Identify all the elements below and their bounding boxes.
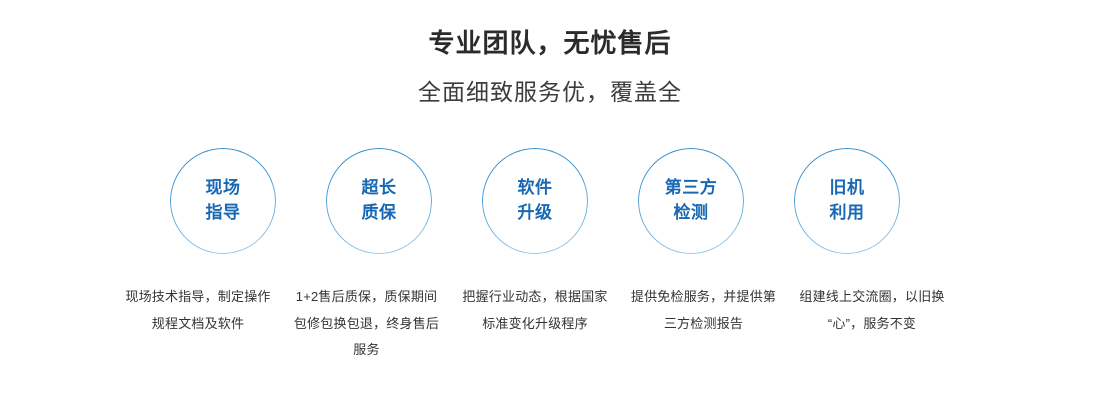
section-heading: 专业团队，无忧售后 全面细致服务优，覆盖全 bbox=[0, 0, 1100, 107]
feature-caption-software-upgrade: 把握行业动态，根据国家标准变化升级程序 bbox=[459, 284, 611, 337]
feature-item-software-upgrade[interactable]: 软件 升级 bbox=[482, 148, 588, 254]
feature-caption-extended-warranty: 1+2售后质保，质保期间包修包换包退，终身售后服务 bbox=[291, 284, 443, 364]
feature-caption-old-machine-reuse: 组建线上交流圈，以旧换“心”，服务不变 bbox=[796, 284, 948, 337]
feature-captions-row: 现场技术指导，制定操作规程文档及软件 1+2售后质保，质保期间包修包换包退，终身… bbox=[122, 284, 948, 364]
feature-item-third-party-testing[interactable]: 第三方 检测 bbox=[638, 148, 744, 254]
feature-item-extended-warranty[interactable]: 超长 质保 bbox=[326, 148, 432, 254]
after-sales-service-section: 专业团队，无忧售后 全面细致服务优，覆盖全 现场 指导 超长 质保 软件 升级 bbox=[0, 0, 1100, 404]
feature-circle[interactable]: 软件 升级 bbox=[482, 148, 588, 254]
feature-circle[interactable]: 现场 指导 bbox=[170, 148, 276, 254]
feature-item-old-machine-reuse[interactable]: 旧机 利用 bbox=[794, 148, 900, 254]
feature-circles-row: 现场 指导 超长 质保 软件 升级 第三方 检测 旧机 利用 bbox=[170, 148, 900, 254]
feature-caption-third-party-testing: 提供免检服务，并提供第三方检测报告 bbox=[628, 284, 780, 337]
feature-item-onsite-guidance[interactable]: 现场 指导 bbox=[170, 148, 276, 254]
feature-circle-label: 超长 质保 bbox=[362, 176, 397, 225]
feature-circle[interactable]: 旧机 利用 bbox=[794, 148, 900, 254]
page-title: 专业团队，无忧售后 bbox=[0, 27, 1100, 60]
feature-circle[interactable]: 第三方 检测 bbox=[638, 148, 744, 254]
feature-caption-onsite-guidance: 现场技术指导，制定操作规程文档及软件 bbox=[122, 284, 274, 337]
feature-circle-label: 第三方 检测 bbox=[665, 176, 718, 225]
feature-circle-label: 旧机 利用 bbox=[830, 176, 865, 225]
page-subtitle: 全面细致服务优，覆盖全 bbox=[0, 78, 1100, 108]
feature-circle[interactable]: 超长 质保 bbox=[326, 148, 432, 254]
feature-circle-label: 现场 指导 bbox=[206, 176, 241, 225]
feature-circle-label: 软件 升级 bbox=[518, 176, 553, 225]
